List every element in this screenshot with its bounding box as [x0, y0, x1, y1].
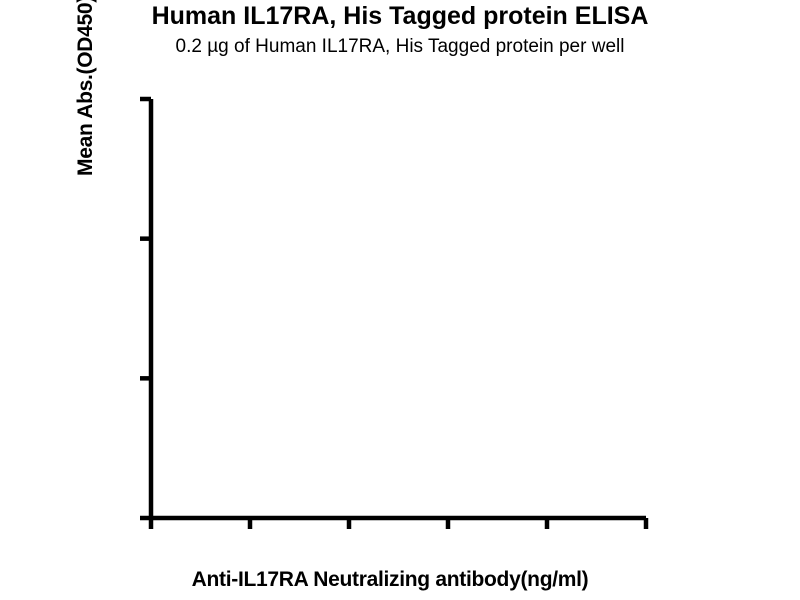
y-axis-label: Mean Abs.(OD450) — [74, 0, 98, 216]
x-axis-label: Anti-IL17RA Neutralizing antibody(ng/ml) — [60, 568, 720, 592]
plot-area — [0, 0, 800, 600]
chart-figure: Human IL17RA, His Tagged protein ELISA 0… — [0, 0, 800, 600]
axes — [140, 99, 646, 529]
